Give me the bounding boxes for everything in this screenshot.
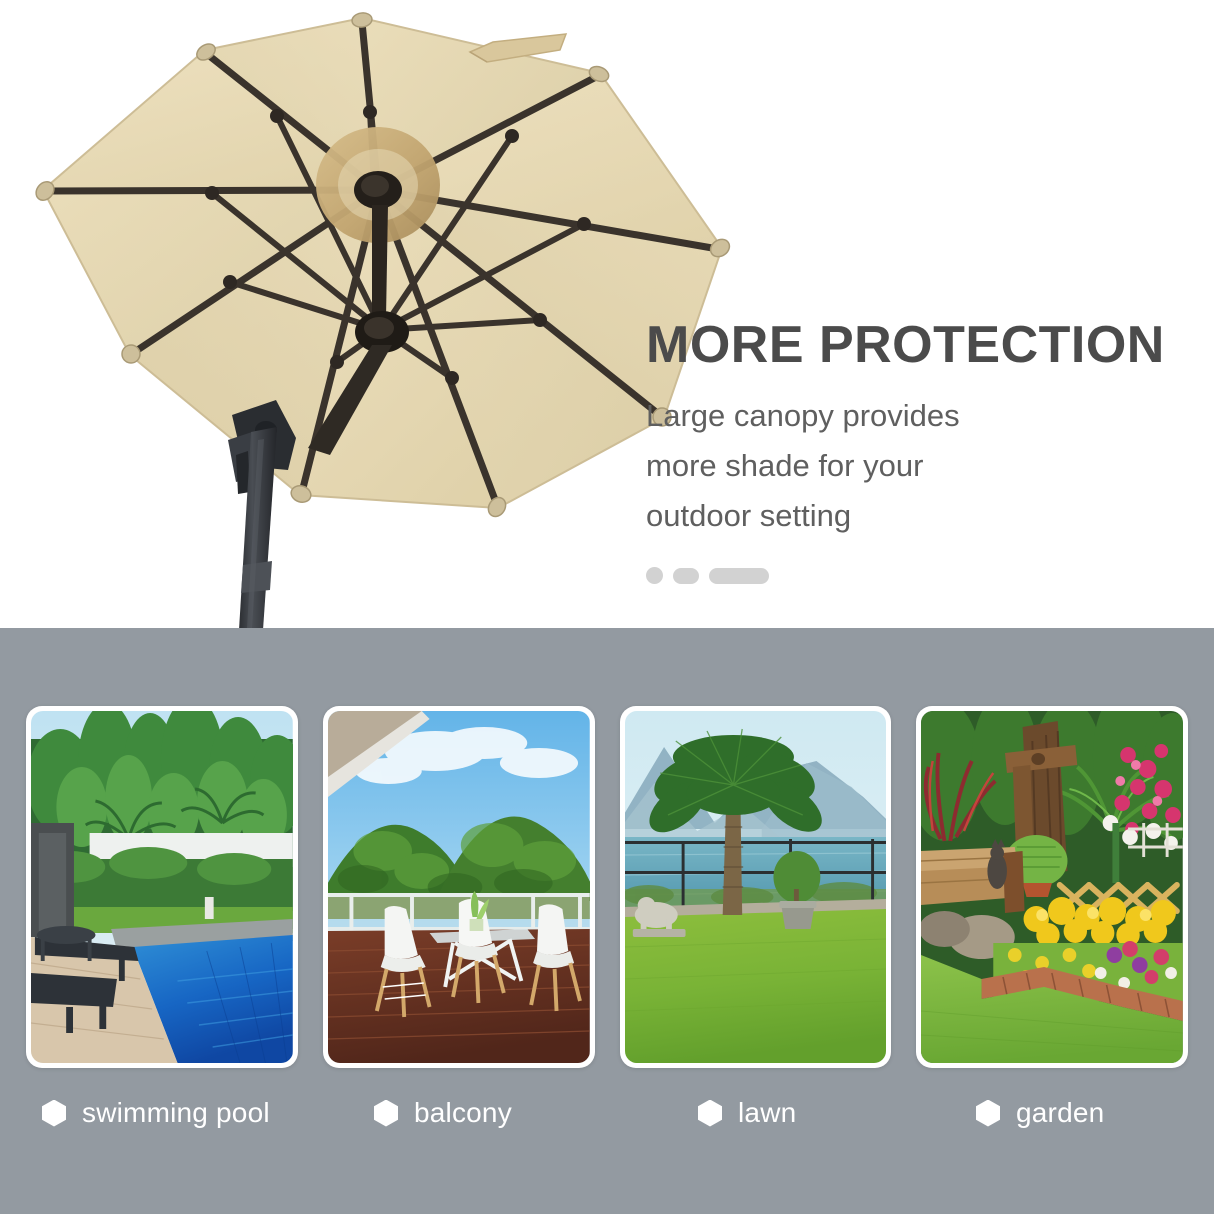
scenario-card-swimming-pool (26, 706, 298, 1068)
subheadline: Large canopy provides more shade for you… (646, 391, 1186, 542)
hexagon-icon (374, 1100, 398, 1127)
scenario-caption-list: swimming pool balcony lawn garden (26, 1090, 1188, 1150)
scenario-card-garden (916, 706, 1188, 1068)
caption-label: balcony (414, 1097, 512, 1129)
caption-swimming-pool: swimming pool (42, 1090, 270, 1136)
garden-photo (921, 711, 1183, 1063)
caption-balcony: balcony (374, 1090, 512, 1136)
usage-scenarios-band: swimming pool balcony lawn garden (0, 628, 1214, 1214)
dot-indicator (646, 567, 663, 584)
subheadline-line-2: more shade for your (646, 441, 1186, 491)
scenario-card-list (26, 706, 1188, 1068)
caption-lawn: lawn (698, 1090, 796, 1136)
caption-label: lawn (738, 1097, 796, 1129)
subheadline-line-3: outdoor setting (646, 491, 1186, 541)
caption-label: garden (1016, 1097, 1104, 1129)
decorative-indicator-group (646, 567, 1186, 584)
caption-garden: garden (976, 1090, 1104, 1136)
hexagon-icon (42, 1100, 66, 1127)
hexagon-icon (698, 1100, 722, 1127)
hero-section: MORE PROTECTION Large canopy provides mo… (0, 0, 1214, 628)
subheadline-line-1: Large canopy provides (646, 391, 1186, 441)
scenario-card-lawn (620, 706, 892, 1068)
balcony-photo (328, 711, 590, 1063)
scenario-card-balcony (323, 706, 595, 1068)
caption-label: swimming pool (82, 1097, 270, 1129)
swimming-pool-photo (31, 711, 293, 1063)
marketing-copy: MORE PROTECTION Large canopy provides mo… (646, 318, 1186, 584)
pill-indicator-small (673, 568, 699, 584)
page-title: MORE PROTECTION (646, 318, 1186, 373)
lawn-photo (625, 711, 887, 1063)
pill-indicator-large (709, 568, 769, 584)
hexagon-icon (976, 1100, 1000, 1127)
